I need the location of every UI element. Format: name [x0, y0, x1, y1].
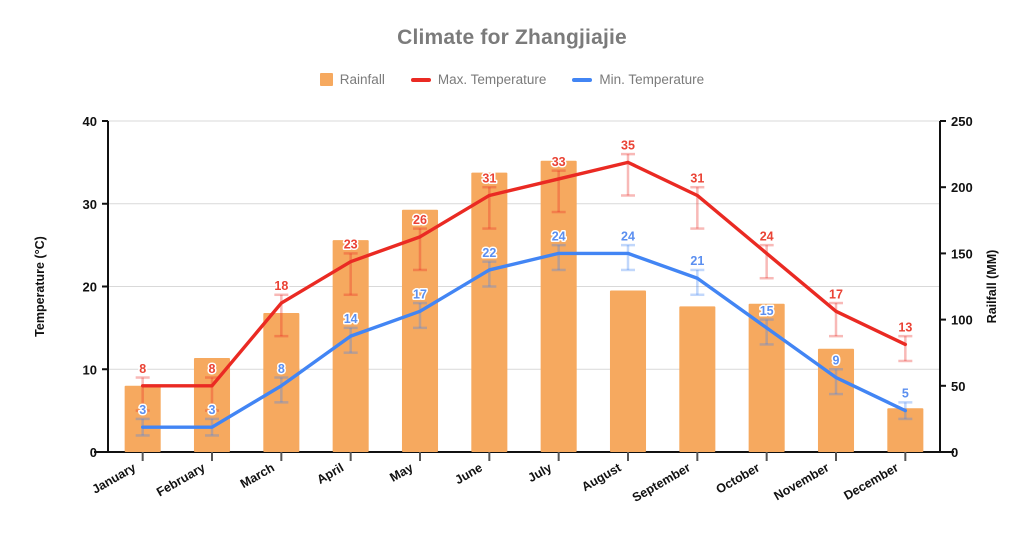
bar-rainfall[interactable]: [610, 290, 646, 452]
y-axis-left-tick-label: 20: [83, 280, 97, 295]
data-label-min-temperature: 21: [690, 254, 704, 268]
data-label-min-temperature: 8: [278, 362, 285, 376]
data-label-max-temperature: 33: [552, 155, 566, 169]
y-axis-left-tick-label: 10: [83, 362, 97, 377]
x-axis-category-label: April: [314, 460, 346, 486]
x-axis-category-label: November: [772, 460, 832, 503]
data-label-min-temperature: 3: [209, 403, 216, 417]
y-axis-left-title: Temperature (°C): [33, 236, 47, 337]
x-axis-category-label: September: [630, 460, 693, 504]
y-axis-right-tick-label: 50: [951, 379, 965, 394]
bar-rainfall[interactable]: [679, 306, 715, 452]
x-axis-category-label: March: [238, 460, 277, 491]
data-label-max-temperature: 13: [898, 320, 912, 334]
data-label-min-temperature: 22: [482, 246, 496, 260]
data-label-min-temperature: 17: [413, 287, 427, 301]
x-axis-category-label: February: [154, 460, 207, 499]
x-axis-category-label: July: [526, 460, 555, 485]
data-label-min-temperature: 24: [621, 229, 635, 243]
data-label-max-temperature: 35: [621, 138, 635, 152]
data-label-min-temperature: 3: [139, 403, 146, 417]
data-label-max-temperature: 31: [690, 171, 704, 185]
x-axis-category-label: August: [579, 460, 624, 494]
data-label-min-temperature: 14: [344, 312, 358, 326]
x-axis-category-label: June: [453, 460, 485, 487]
y-axis-right-tick-label: 200: [951, 180, 973, 195]
data-label-max-temperature: 23: [344, 238, 358, 252]
x-axis-category-label: January: [90, 460, 139, 496]
y-axis-right-title: Railfall (MM): [985, 250, 999, 324]
line-min-temperature[interactable]: [143, 253, 906, 427]
chart-plot-area: 010203040050100150200250Temperature (°C)…: [0, 0, 1024, 545]
data-label-max-temperature: 24: [760, 229, 774, 243]
data-label-max-temperature: 17: [829, 287, 843, 301]
data-label-min-temperature: 24: [552, 229, 566, 243]
y-axis-right-tick-label: 100: [951, 313, 973, 328]
data-label-min-temperature: 15: [760, 304, 774, 318]
y-axis-right-tick-label: 250: [951, 114, 973, 129]
x-axis-category-label: October: [714, 460, 763, 496]
x-axis-category-label: December: [841, 460, 900, 502]
climate-chart: Climate for Zhangjiajie RainfallMax. Tem…: [0, 0, 1024, 545]
data-label-max-temperature: 8: [139, 362, 146, 376]
data-label-max-temperature: 26: [413, 213, 427, 227]
data-label-min-temperature: 5: [902, 387, 909, 401]
data-label-max-temperature: 31: [482, 171, 496, 185]
y-axis-left-tick-label: 30: [83, 197, 97, 212]
y-axis-left-tick-label: 40: [83, 114, 97, 129]
data-label-min-temperature: 9: [833, 354, 840, 368]
x-axis-category-label: May: [387, 460, 415, 484]
data-label-max-temperature: 18: [274, 279, 288, 293]
data-label-max-temperature: 8: [209, 362, 216, 376]
line-max-temperature[interactable]: [143, 162, 906, 385]
y-axis-right-tick-label: 150: [951, 246, 973, 261]
